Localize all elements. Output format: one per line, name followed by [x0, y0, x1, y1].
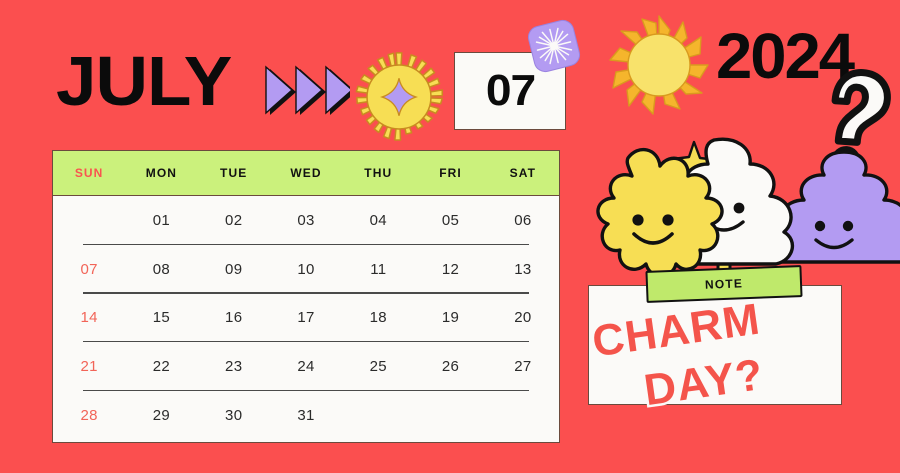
day-cell[interactable]: 03 — [270, 212, 342, 229]
day-cell[interactable]: 04 — [342, 212, 414, 229]
day-cell[interactable]: 09 — [198, 261, 270, 278]
note-banner: NOTE — [645, 265, 802, 303]
day-cell[interactable]: 26 — [414, 358, 486, 375]
day-cell[interactable]: 20 — [487, 309, 559, 326]
weekday-fri: FRI — [414, 166, 486, 180]
day-cell[interactable]: 15 — [125, 309, 197, 326]
day-cell[interactable]: 28 — [53, 407, 125, 424]
calendar-card: SUN MON TUE WED THU FRI SAT 01 02 03 04 … — [52, 150, 560, 443]
day-cell[interactable]: 27 — [487, 358, 559, 375]
day-cell[interactable]: 30 — [198, 407, 270, 424]
day-cell[interactable]: 02 — [198, 212, 270, 229]
day-cell[interactable]: 23 — [198, 358, 270, 375]
calendar-week-row: 28 29 30 31 — [53, 391, 559, 440]
day-cell[interactable]: 22 — [125, 358, 197, 375]
calendar-week-row: 01 02 03 04 05 06 — [53, 196, 559, 245]
day-cell[interactable]: 05 — [414, 212, 486, 229]
page-title: JULY — [56, 46, 231, 116]
weekday-thu: THU — [342, 166, 414, 180]
day-cell[interactable]: 16 — [198, 309, 270, 326]
day-cell[interactable]: 08 — [125, 261, 197, 278]
poster-canvas: JULY — [0, 0, 900, 473]
day-cell[interactable]: 11 — [342, 261, 414, 278]
day-cell[interactable]: 13 — [487, 261, 559, 278]
day-cell[interactable]: 17 — [270, 309, 342, 326]
calendar-weekday-header: SUN MON TUE WED THU FRI SAT — [53, 151, 559, 196]
day-cell[interactable]: 29 — [125, 407, 197, 424]
day-cell[interactable]: 12 — [414, 261, 486, 278]
day-cell[interactable]: 31 — [270, 407, 342, 424]
sun-icon — [608, 14, 710, 116]
sun-star-icon — [352, 50, 446, 144]
weekday-mon: MON — [125, 166, 197, 180]
weekday-tue: TUE — [198, 166, 270, 180]
calendar-week-row: 07 08 09 10 11 12 13 — [53, 245, 559, 294]
calendar-week-row: 14 15 16 17 18 19 20 — [53, 294, 559, 343]
weekday-sun: SUN — [53, 166, 125, 180]
day-cell[interactable]: 10 — [270, 261, 342, 278]
note-banner-label: NOTE — [705, 276, 744, 291]
day-cell[interactable]: 24 — [270, 358, 342, 375]
weekday-wed: WED — [270, 166, 342, 180]
day-cell[interactable]: 14 — [53, 309, 125, 326]
calendar-grid: 01 02 03 04 05 06 07 08 09 10 11 12 13 1… — [53, 196, 559, 442]
day-cell[interactable]: 06 — [487, 212, 559, 229]
calendar-week-row: 21 22 23 24 25 26 27 — [53, 342, 559, 391]
day-cell[interactable]: 18 — [342, 309, 414, 326]
day-cell[interactable]: 21 — [53, 358, 125, 375]
day-cell[interactable]: 25 — [342, 358, 414, 375]
triple-chevron-right-icon — [262, 63, 350, 121]
day-cell[interactable]: 01 — [125, 212, 197, 229]
day-cell[interactable]: 19 — [414, 309, 486, 326]
weekday-sat: SAT — [487, 166, 559, 180]
sparkle-sticker-icon — [524, 16, 584, 76]
day-cell[interactable]: 07 — [53, 261, 125, 278]
